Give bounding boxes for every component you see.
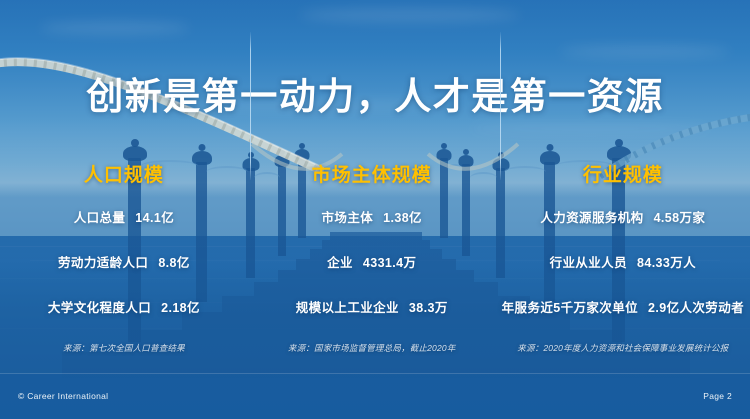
stats-column-population: 人口规模 人口总量14.1亿 劳动力适龄人口8.8亿 大学文化程度人口2.18亿… bbox=[0, 160, 248, 354]
stat-value: 14.1亿 bbox=[135, 211, 174, 225]
stat-value: 2.9亿人次劳动者 bbox=[648, 301, 744, 315]
stat-label: 人力资源服务机构 bbox=[540, 211, 643, 225]
stat-value: 38.3万 bbox=[409, 301, 448, 315]
stat-value: 8.8亿 bbox=[158, 256, 189, 270]
stat-list-population: 人口总量14.1亿 劳动力适龄人口8.8亿 大学文化程度人口2.18亿 bbox=[6, 207, 242, 316]
stat-label: 规模以上工业企业 bbox=[296, 301, 399, 315]
column-heading-market-entities: 市场主体规模 bbox=[254, 160, 490, 187]
stat-label: 行业从业人员 bbox=[550, 256, 627, 270]
source-note-market-entities: 来源：国家市场监督管理总局，截止2020年 bbox=[254, 342, 490, 354]
stat-label: 人口总量 bbox=[74, 211, 126, 225]
stats-column-industry: 行业规模 人力资源服务机构4.58万家 行业从业人员84.33万人 年服务近5千… bbox=[496, 160, 750, 354]
stat-list-industry: 人力资源服务机构4.58万家 行业从业人员84.33万人 年服务近5千万家次单位… bbox=[502, 207, 744, 316]
stat-row: 企业4331.4万 bbox=[254, 252, 490, 271]
stat-value: 4.58万家 bbox=[654, 211, 706, 225]
stat-list-market-entities: 市场主体1.38亿 企业4331.4万 规模以上工业企业38.3万 bbox=[254, 207, 490, 316]
stat-label: 企业 bbox=[327, 256, 353, 270]
stat-value: 2.18亿 bbox=[161, 301, 200, 315]
stat-label: 年服务近5千万家次单位 bbox=[502, 301, 638, 315]
footer-bar bbox=[0, 374, 750, 419]
stat-label: 劳动力适龄人口 bbox=[58, 256, 148, 270]
stat-row: 市场主体1.38亿 bbox=[254, 207, 490, 226]
copyright-text: © Career International bbox=[18, 391, 108, 401]
stat-label: 大学文化程度人口 bbox=[48, 301, 151, 315]
stat-row: 年服务近5千万家次单位2.9亿人次劳动者 bbox=[502, 297, 744, 316]
stats-columns: 人口规模 人口总量14.1亿 劳动力适龄人口8.8亿 大学文化程度人口2.18亿… bbox=[0, 160, 750, 354]
stat-value: 4331.4万 bbox=[363, 256, 417, 270]
stat-row: 劳动力适龄人口8.8亿 bbox=[6, 252, 242, 271]
stat-row: 人力资源服务机构4.58万家 bbox=[502, 207, 744, 226]
page-title: 创新是第一动力，人才是第一资源 bbox=[0, 66, 750, 120]
column-heading-industry: 行业规模 bbox=[502, 160, 744, 187]
stat-row: 行业从业人员84.33万人 bbox=[502, 252, 744, 271]
footer-divider bbox=[0, 373, 750, 374]
column-heading-population: 人口规模 bbox=[6, 160, 242, 187]
stats-column-market-entities: 市场主体规模 市场主体1.38亿 企业4331.4万 规模以上工业企业38.3万… bbox=[248, 160, 496, 354]
column-divider-left bbox=[250, 32, 251, 180]
stat-row: 人口总量14.1亿 bbox=[6, 207, 242, 226]
stat-label: 市场主体 bbox=[322, 211, 374, 225]
stat-value: 84.33万人 bbox=[637, 256, 696, 270]
column-divider-right bbox=[500, 32, 501, 180]
stat-row: 大学文化程度人口2.18亿 bbox=[6, 297, 242, 316]
page-number: Page 2 bbox=[703, 391, 732, 401]
stat-value: 1.38亿 bbox=[383, 211, 422, 225]
source-note-population: 来源：第七次全国人口普查结果 bbox=[6, 342, 242, 354]
stat-row: 规模以上工业企业38.3万 bbox=[254, 297, 490, 316]
slide-canvas: 创新是第一动力，人才是第一资源 人口规模 人口总量14.1亿 劳动力适龄人口8.… bbox=[0, 0, 750, 419]
source-note-industry: 来源：2020年度人力资源和社会保障事业发展统计公报 bbox=[502, 342, 744, 354]
